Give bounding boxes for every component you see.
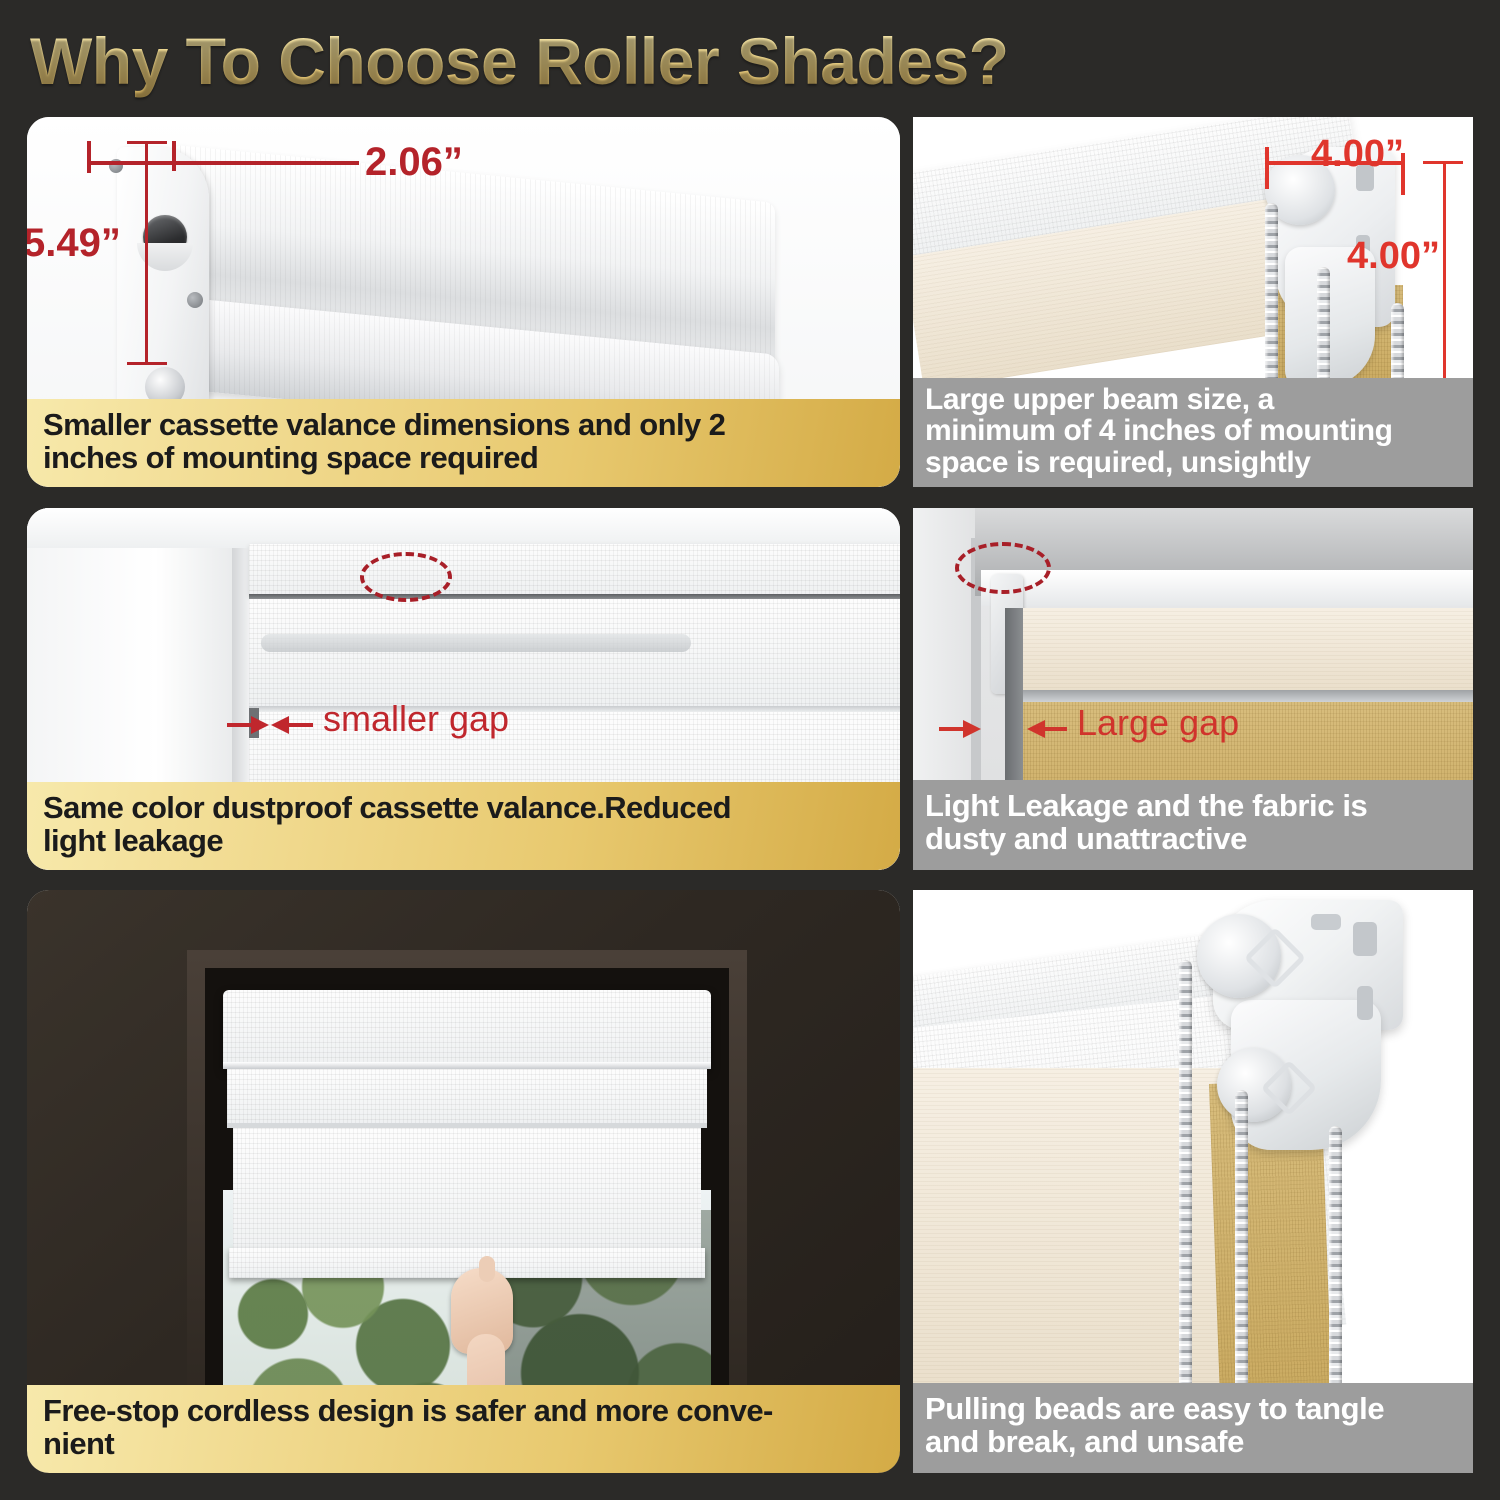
page-title: Why To Choose Roller Shades? xyxy=(30,22,1130,100)
caption-line: Smaller cassette valance dimensions and … xyxy=(43,409,884,442)
caption-line: Pulling beads are easy to tangle xyxy=(925,1393,1461,1426)
caption-line: light leakage xyxy=(43,825,884,858)
caption-line: space is required, unsightly xyxy=(925,447,1461,479)
caption-line: nient xyxy=(43,1428,884,1461)
fabric-edge-shadow xyxy=(1021,690,1473,702)
caption-line: Light Leakage and the fabric is xyxy=(925,790,1461,823)
screw-middle xyxy=(187,292,203,308)
valance-lip xyxy=(223,1062,711,1069)
panel-mid-right: Large gap Light Leakage and the fabric i… xyxy=(913,508,1473,870)
gap-label-large: Large gap xyxy=(1077,702,1239,744)
panel-mid-left: smaller gap Same color dustproof cassett… xyxy=(27,508,900,870)
cassette-valance xyxy=(249,544,900,596)
window-frame-top xyxy=(27,508,900,548)
dim-line-height xyxy=(1443,161,1446,391)
caption-top-left: Smaller cassette valance dimensions and … xyxy=(27,399,900,487)
gap-highlight-ellipse xyxy=(955,542,1051,594)
caption-line: minimum of 4 inches of mounting xyxy=(925,415,1461,447)
caption-line: Free-stop cordless design is safer and m… xyxy=(43,1395,884,1428)
dim-line-width xyxy=(87,161,359,165)
shade-fabric-upper xyxy=(249,599,900,709)
dim-cap-height-bottom xyxy=(127,362,167,365)
panel-bottom-left: Free-stop cordless design is safer and m… xyxy=(27,890,900,1473)
infographic-page: Why To Choose Roller Shades? 2.06” xyxy=(0,0,1500,1500)
dimension-width-label: 2.06” xyxy=(365,140,463,185)
panel-bottom-right: Pulling beads are easy to tangle and bre… xyxy=(913,890,1473,1473)
bracket-slot-c xyxy=(1357,986,1373,1020)
gap-highlight-ellipse xyxy=(360,552,452,602)
bracket-slot-b xyxy=(1311,914,1341,930)
caption-line: Large upper beam size, a xyxy=(925,384,1461,416)
dim-line-height xyxy=(145,141,148,363)
cassette-valance xyxy=(223,990,711,1068)
dimension-height-label: 4.00” xyxy=(1347,235,1440,278)
roller-shadow xyxy=(261,634,691,652)
caption-line: and break, and unsafe xyxy=(925,1426,1461,1459)
dim-cap-height-top xyxy=(127,141,167,144)
caption-mid-left: Same color dustproof cassette valance.Re… xyxy=(27,782,900,870)
shade-fabric-top xyxy=(227,1069,707,1125)
caption-bottom-right: Pulling beads are easy to tangle and bre… xyxy=(913,1383,1473,1473)
dimension-width-label: 4.00” xyxy=(1311,133,1404,176)
thumb xyxy=(479,1256,495,1282)
caption-line: dusty and unattractive xyxy=(925,823,1461,856)
dim-tick-left xyxy=(1265,147,1269,189)
caption-top-right: Large upper beam size, a minimum of 4 in… xyxy=(913,378,1473,487)
dim-cap-height-top xyxy=(1423,161,1463,164)
panel-top-right: 4.00” 4.00” Large upper beam size, a min… xyxy=(913,117,1473,487)
gap-label-smaller: smaller gap xyxy=(323,698,509,740)
caption-mid-right: Light Leakage and the fabric is dusty an… xyxy=(913,780,1473,870)
roller-bar xyxy=(981,570,1473,606)
fabric-cream-band xyxy=(1021,608,1473,692)
caption-line: inches of mounting space required xyxy=(43,442,884,475)
bracket-slot-a xyxy=(1353,922,1377,956)
dim-cap-left xyxy=(87,155,91,171)
dim-tick-right-top xyxy=(172,141,176,171)
panel-top-left: 2.06” 5.49” Smaller cassette valance dim… xyxy=(27,117,900,487)
caption-bottom-left: Free-stop cordless design is safer and m… xyxy=(27,1385,900,1473)
dimension-height-label: 5.49” xyxy=(27,221,121,266)
caption-line: Same color dustproof cassette valance.Re… xyxy=(43,792,884,825)
